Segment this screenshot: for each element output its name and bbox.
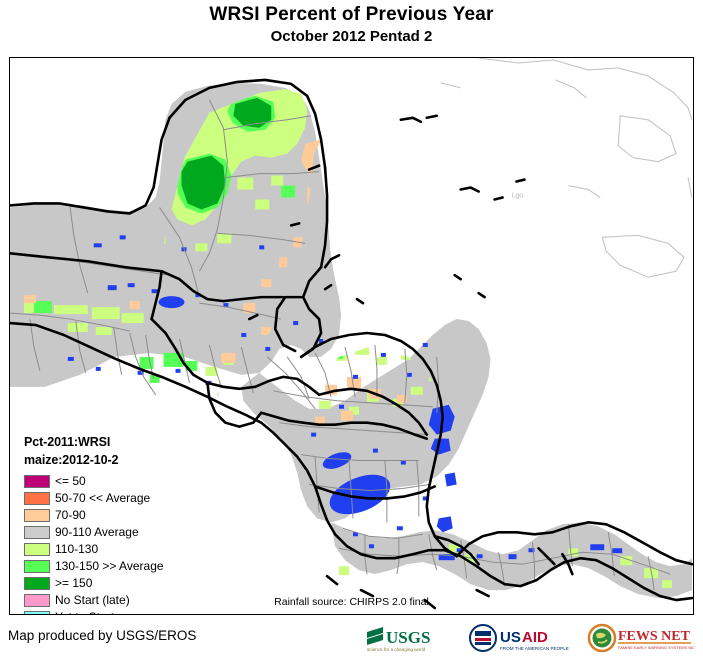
legend-label-70-90: 70-90 [55, 509, 86, 522]
svg-text:USGS: USGS [386, 628, 430, 647]
legend-item-yet-to-start: Yet to Start [24, 609, 214, 615]
legend-item-lte-50: <= 50 [24, 473, 214, 489]
legend-item-gte-150: >= 150 [24, 575, 214, 591]
legend-label-110-130: 110-130 [55, 543, 98, 556]
legend-item-110-130: 110-130 [24, 541, 214, 557]
usaid-logo: US AID FROM THE AMERICAN PEOPLE [468, 622, 580, 656]
legend-item-90-110: 90-110 Average [24, 524, 214, 540]
legend-swatch-110-130 [24, 543, 50, 556]
legend-rows: <= 50 50-70 << Average 70-90 90-110 Aver… [24, 473, 214, 615]
svg-text:FAMINE EARLY WARNING SYSTEMS N: FAMINE EARLY WARNING SYSTEMS NETWORK [618, 645, 695, 650]
legend-item-50-70: 50-70 << Average [24, 490, 214, 506]
fewsnet-logo: FEWS NET FAMINE EARLY WARNING SYSTEMS NE… [587, 622, 695, 656]
legend-item-70-90: 70-90 [24, 507, 214, 523]
svg-text:FROM THE AMERICAN PEOPLE: FROM THE AMERICAN PEOPLE [500, 646, 569, 651]
produced-by-label: Map produced by USGS/EROS [8, 628, 196, 643]
legend-label-130-150: 130-150 >> Average [55, 560, 164, 573]
usgs-logo: USGS science for a changing world [365, 622, 461, 656]
svg-text:AID: AID [522, 629, 548, 646]
legend-swatch-50-70 [24, 492, 50, 505]
legend-swatch-lte-50 [24, 475, 50, 488]
legend-label-yet-to-start: Yet to Start [55, 611, 114, 616]
title-block: WRSI Percent of Previous Year October 20… [0, 0, 703, 47]
logo-strip: USGS science for a changing world US AID… [365, 622, 695, 656]
footer: Map produced by USGS/EROS USGS science f… [0, 620, 703, 662]
map-legend: Pct-2011:WRSI maize:2012-10-2 <= 50 50-7… [24, 433, 214, 615]
legend-swatch-gte-150 [24, 577, 50, 590]
page-subtitle: October 2012 Pentad 2 [0, 27, 703, 47]
legend-swatch-90-110 [24, 526, 50, 539]
rainfall-source-caption: Rainfall source: CHIRPS 2.0 final [10, 596, 693, 608]
legend-swatch-70-90 [24, 509, 50, 522]
legend-swatch-130-150 [24, 560, 50, 573]
offshore-label: Lgo [512, 192, 524, 199]
svg-text:FEWS NET: FEWS NET [618, 629, 691, 644]
legend-header-line2: maize:2012-10-2 [24, 451, 214, 469]
legend-header-line1: Pct-2011:WRSI [24, 433, 214, 451]
legend-label-90-110: 90-110 Average [55, 526, 139, 539]
page-title: WRSI Percent of Previous Year [0, 4, 703, 26]
legend-item-130-150: 130-150 >> Average [24, 558, 214, 574]
map-frame[interactable]: Lgo [9, 57, 694, 615]
legend-swatch-yet-to-start [24, 611, 50, 616]
legend-label-gte-150: >= 150 [55, 577, 92, 590]
legend-label-lte-50: <= 50 [55, 475, 86, 488]
legend-label-50-70: 50-70 << Average [55, 492, 150, 505]
svg-text:science for a changing world: science for a changing world [367, 647, 426, 652]
svg-text:US: US [500, 629, 521, 646]
